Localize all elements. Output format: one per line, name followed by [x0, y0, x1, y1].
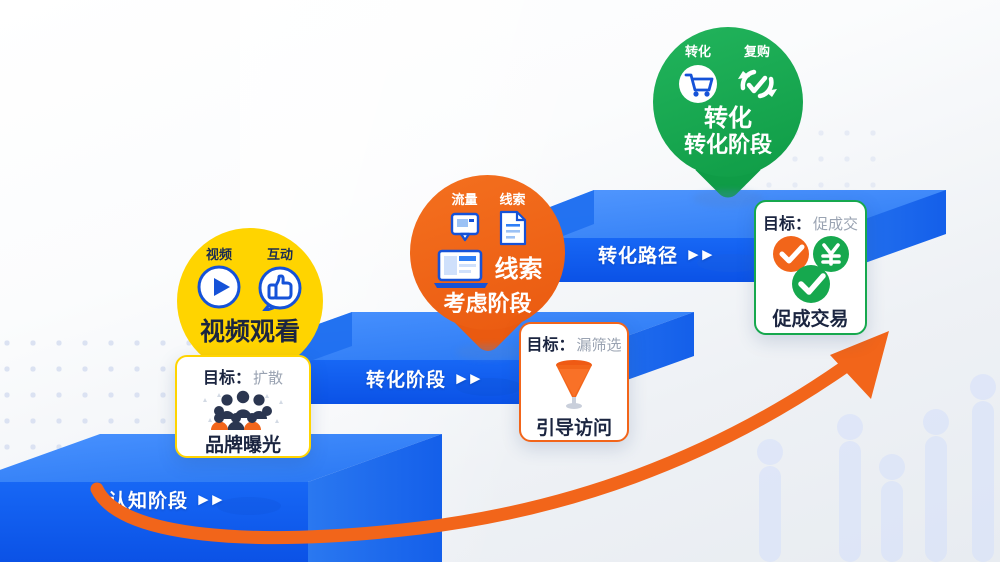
step-label-text: 转化阶段	[366, 365, 446, 392]
card-footer: 品牌曝光	[205, 430, 281, 457]
goal-key: 目标：	[203, 364, 251, 388]
card-goal: 目标： 漏筛选	[526, 331, 621, 355]
goal-card-guide-visit[interactable]: 目标： 漏筛选 引导访问	[519, 322, 629, 442]
double-arrow-icon: ►►	[685, 246, 713, 263]
pin-shadow	[693, 190, 763, 207]
mini-caption: 流量	[451, 189, 477, 208]
pin-shadow	[456, 344, 520, 360]
pin-body: 转化 复购	[653, 27, 803, 177]
pin-subtitle: 转化阶段	[684, 133, 772, 158]
pin-body: 视频 互动 视频观看	[177, 228, 323, 374]
deal-badges-icon	[765, 234, 857, 304]
goal-card-brand-exposure[interactable]: 目标： 扩散	[175, 355, 311, 458]
pin-icon-row: 转化 复购	[676, 41, 780, 106]
mini-repurchase: 复购	[734, 41, 780, 106]
document-icon	[498, 210, 528, 246]
step-label-text: 认知阶段	[108, 486, 188, 513]
goal-card-close-deal[interactable]: 目标： 促成交 促成交易	[754, 200, 867, 335]
goal-value: 扩散	[253, 367, 283, 388]
card-footer: 促成交易	[772, 304, 848, 331]
thumbs-up-icon	[257, 265, 303, 311]
pin-icon-row: 视频 互动	[197, 244, 303, 311]
infographic-canvas: 认知阶段 ►► 转化阶段 ►► 转化路径 ►► 视频 互动	[0, 0, 1000, 562]
funnel-icon	[545, 355, 603, 413]
step-label-text: 转化路径	[598, 241, 678, 268]
goal-value: 促成交	[813, 213, 858, 234]
card-art	[765, 234, 857, 304]
repeat-purchase-icon	[734, 62, 780, 106]
step-label-conversion-stage: 转化阶段 ►►	[366, 365, 481, 392]
goal-key: 目标：	[763, 210, 811, 234]
mini-traffic: 流量	[448, 189, 482, 244]
mini-conversion: 转化	[676, 41, 720, 106]
laptop-icon	[433, 248, 489, 292]
mini-caption: 互动	[267, 244, 293, 263]
mini-video: 视频	[197, 244, 241, 309]
pin-title: 线索	[495, 257, 543, 284]
mini-leads: 线索	[498, 189, 528, 246]
pin-conversion[interactable]: 转化 复购	[653, 27, 803, 177]
pin-icon-row: 流量 线索	[448, 189, 528, 246]
pin-subtitle: 考虑阶段	[443, 292, 531, 317]
pin-title: 转化	[704, 106, 752, 133]
card-footer: 引导访问	[536, 413, 612, 440]
mini-caption: 复购	[744, 41, 770, 60]
step-label-awareness: 认知阶段 ►►	[108, 486, 223, 513]
mini-caption: 转化	[685, 41, 711, 60]
mini-caption: 视频	[206, 244, 232, 263]
step-label-conversion-path: 转化路径 ►►	[598, 241, 713, 268]
card-art	[545, 355, 603, 413]
mini-interaction: 互动	[257, 244, 303, 311]
double-arrow-icon: ►►	[195, 491, 223, 508]
card-goal: 目标： 扩散	[203, 364, 283, 388]
goal-key: 目标：	[526, 331, 574, 355]
play-icon	[197, 265, 241, 309]
double-arrow-icon: ►►	[453, 370, 481, 387]
pin-body: 流量 线索	[410, 175, 565, 330]
traffic-icon	[448, 210, 482, 244]
crowd-icon	[193, 388, 293, 430]
mini-caption: 线索	[499, 189, 525, 208]
goal-value: 漏筛选	[577, 334, 622, 355]
shopping-cart-icon	[676, 62, 720, 106]
card-art	[193, 388, 293, 430]
pin-consideration[interactable]: 流量 线索	[410, 175, 565, 330]
pin-title: 视频观看	[200, 318, 300, 346]
card-goal: 目标： 促成交	[763, 210, 858, 234]
pin-video-watch[interactable]: 视频 互动 视频观看	[177, 228, 323, 374]
